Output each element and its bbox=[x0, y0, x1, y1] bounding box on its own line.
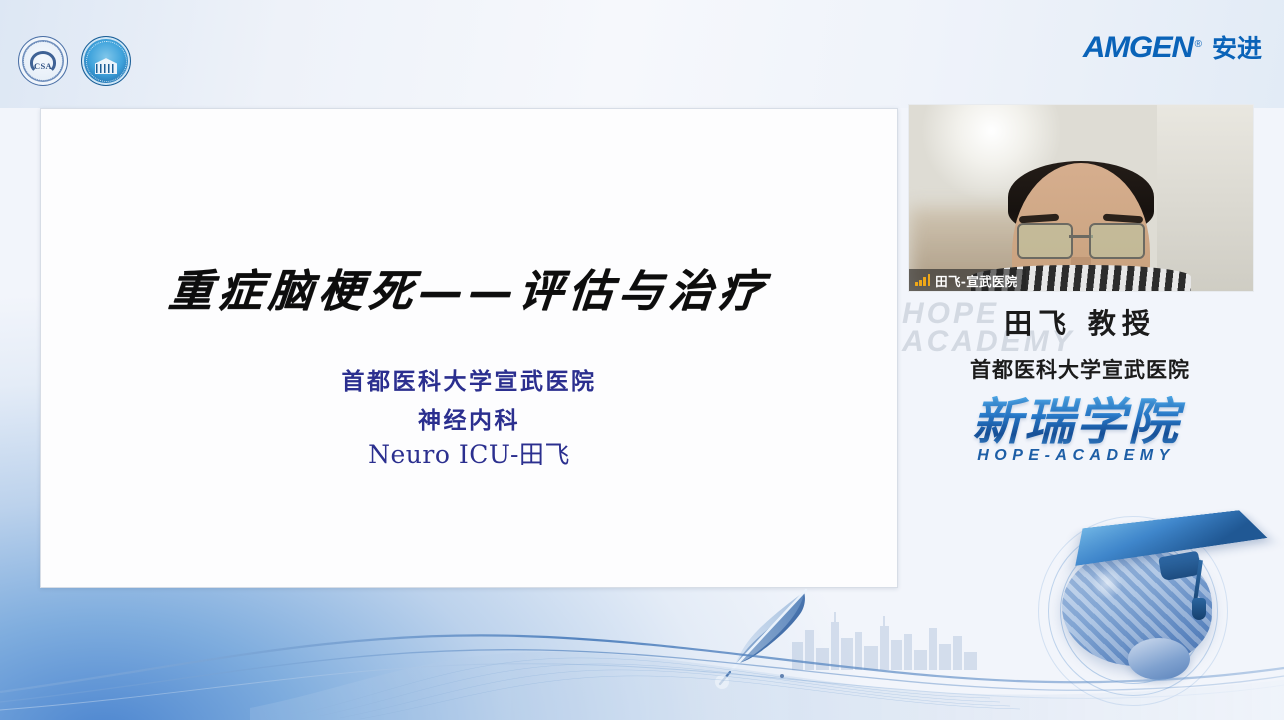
header-bar: CSA AMGEN ® 安进 bbox=[0, 0, 1284, 108]
video-wall-right bbox=[1157, 105, 1253, 291]
hope-seal-icon bbox=[81, 36, 131, 86]
amgen-wordmark: AMGEN bbox=[1083, 33, 1193, 63]
csa-seal-label: CSA bbox=[19, 61, 67, 71]
video-participant-name: 田飞-宣武医院 bbox=[935, 271, 1017, 290]
video-person-glasses-icon bbox=[1017, 223, 1145, 257]
glasses-lens-left bbox=[1017, 223, 1073, 259]
video-participant-badge: 田飞-宣武医院 bbox=[909, 269, 1026, 291]
slide-subtitle-department: 神经内科 bbox=[41, 401, 897, 435]
amgen-chinese-name: 安进 bbox=[1212, 36, 1262, 61]
presenter-name: 田飞 教授 bbox=[908, 302, 1252, 342]
brand-english-name: HOPE-ACADEMY bbox=[920, 447, 1232, 465]
brand-logo: 新瑞学院 HOPE-ACADEMY bbox=[920, 396, 1232, 465]
slide-subtitle-unit: Neuro ICU-田飞 bbox=[41, 435, 897, 471]
sponsor-logo: AMGEN ® 安进 bbox=[1085, 33, 1262, 63]
wave-lines-icon bbox=[0, 590, 1284, 720]
csa-seal-icon: CSA bbox=[18, 36, 68, 86]
hope-seal-columns bbox=[96, 64, 116, 73]
presenter-block: HOPE ACADEMY 田飞 教授 首都医科大学宣武医院 bbox=[908, 296, 1252, 384]
presentation-stage: CSA AMGEN ® 安进 重症脑梗死——评估与治疗 首都医科大学宣武医院 神… bbox=[0, 0, 1284, 720]
header-logo-group: CSA bbox=[18, 36, 131, 86]
brand-chinese-name: 新瑞学院 bbox=[920, 396, 1232, 449]
slide-subtitle-institution: 首都医科大学宣武医院 bbox=[41, 362, 897, 396]
glasses-lens-right bbox=[1089, 223, 1145, 259]
registered-trademark-icon: ® bbox=[1195, 39, 1202, 50]
presenter-organization: 首都医科大学宣武医院 bbox=[908, 354, 1252, 384]
slide-title: 重症脑梗死——评估与治疗 bbox=[40, 255, 898, 319]
signal-bars-icon bbox=[915, 274, 930, 286]
slide-panel[interactable]: 重症脑梗死——评估与治疗 首都医科大学宣武医院 神经内科 Neuro ICU-田… bbox=[40, 108, 898, 588]
video-tile[interactable]: 田飞-宣武医院 bbox=[908, 104, 1254, 292]
